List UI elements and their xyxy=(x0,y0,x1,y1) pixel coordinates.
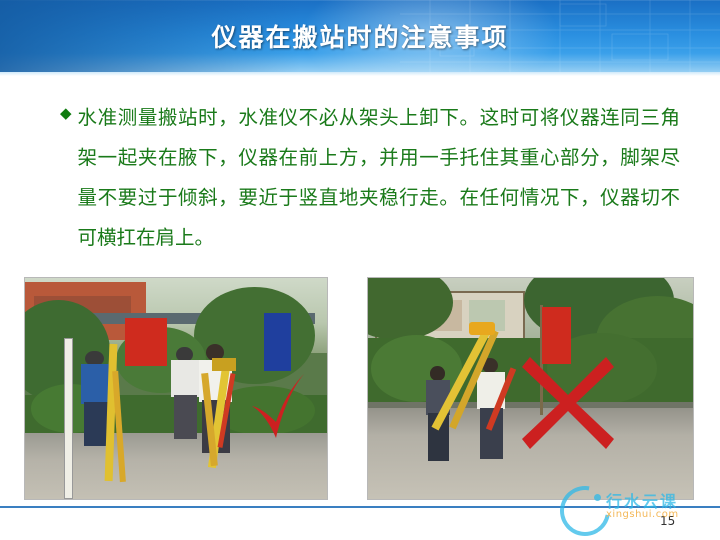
watermark-subtitle: xingshui.com xyxy=(606,509,679,520)
photo2-instrument-head xyxy=(469,322,495,335)
watermark-dot-icon xyxy=(594,494,601,501)
incorrect-carry-photo xyxy=(367,277,694,500)
photo-person1-body xyxy=(81,364,110,404)
body-bullet-block: ◆ 水准测量搬站时，水准仪不必从架头上卸下。这时可将仪器连同三角架一起夹在腋下，… xyxy=(60,98,680,258)
photo-leveling-staff xyxy=(64,338,73,499)
slide-header: 仪器在搬站时的注意事项 xyxy=(0,0,720,76)
slide-root: 仪器在搬站时的注意事项 ◆ 水准测量搬站时，水准仪不必从架头上卸下。这时可将仪器… xyxy=(0,0,720,540)
photo-level-instrument xyxy=(212,358,236,371)
photo2-path-edge xyxy=(368,402,693,409)
photo-person2-legs xyxy=(174,395,197,439)
photo-red-banner xyxy=(125,318,167,367)
watermark: 行水云课 xingshui.com xyxy=(560,482,710,538)
diamond-bullet-icon: ◆ xyxy=(60,106,72,121)
header-bottom-highlight xyxy=(0,72,720,76)
photo-person1-legs xyxy=(84,402,108,446)
page-title: 仪器在搬站时的注意事项 xyxy=(0,18,720,54)
photo-blue-banner xyxy=(264,313,291,370)
photo2-personA-head xyxy=(430,366,445,380)
photo2-red-flag xyxy=(542,307,571,364)
bullet-row: ◆ 水准测量搬站时，水准仪不必从架头上卸下。这时可将仪器连同三角架一起夹在腋下，… xyxy=(60,98,680,258)
correct-carry-photo xyxy=(24,277,328,500)
body-paragraph: 水准测量搬站时，水准仪不必从架头上卸下。这时可将仪器连同三角架一起夹在腋下，仪器… xyxy=(78,98,680,258)
photo-person2-body xyxy=(171,360,198,398)
